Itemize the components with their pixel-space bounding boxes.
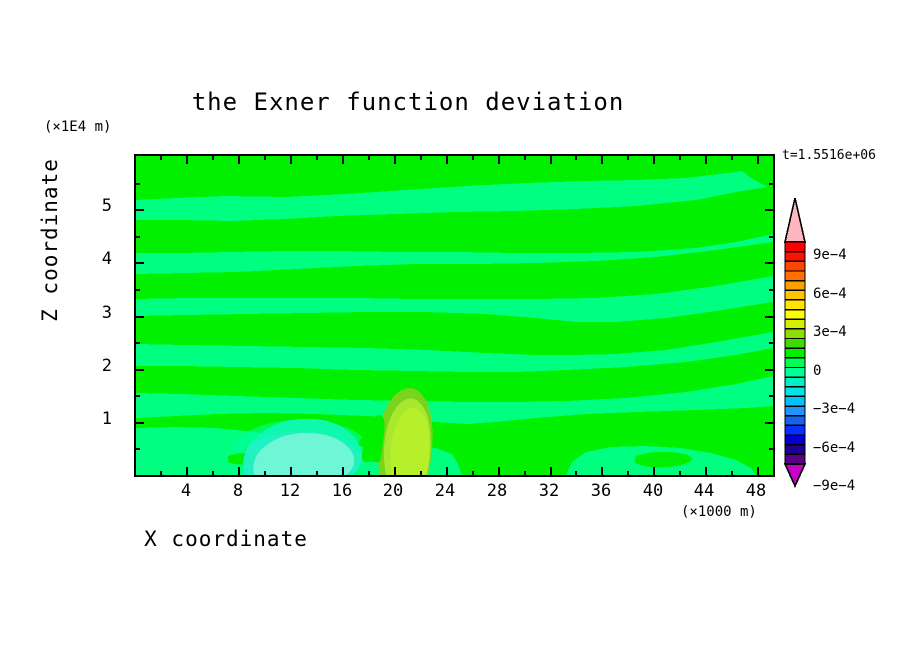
colorbar-tick-label: 6e−4	[813, 286, 847, 302]
x-axis-title: X coordinate	[0, 527, 904, 551]
y-tick-minor	[134, 289, 140, 291]
y-tick-right	[765, 422, 775, 424]
contour-plot-area	[134, 154, 775, 477]
x-tick-minor	[679, 471, 681, 477]
y-tick-right-minor	[769, 236, 775, 238]
y-tick-major	[134, 209, 144, 211]
x-tick-top	[290, 154, 292, 164]
y-tick-right-minor	[769, 342, 775, 344]
x-tick-minor	[264, 471, 266, 477]
x-tick-major	[394, 467, 396, 477]
colorbar-tick-label: 3e−4	[813, 324, 847, 340]
x-tick-top-minor	[575, 154, 577, 160]
x-tick-top-minor	[420, 154, 422, 160]
x-tick-minor	[731, 471, 733, 477]
x-tick-label: 24	[415, 481, 475, 501]
x-tick-top	[550, 154, 552, 164]
x-tick-top-minor	[264, 154, 266, 160]
time-annotation: t=1.5516e+06	[782, 148, 876, 163]
x-tick-major	[653, 467, 655, 477]
x-tick-top-minor	[627, 154, 629, 160]
y-tick-major	[134, 369, 144, 371]
x-tick-top-minor	[731, 154, 733, 160]
x-tick-top	[498, 154, 500, 164]
x-tick-minor	[420, 471, 422, 477]
x-tick-major	[550, 467, 552, 477]
y-tick-right	[765, 262, 775, 264]
y-tick-minor	[134, 236, 140, 238]
y-tick-label: 5	[84, 196, 112, 216]
y-tick-major	[134, 316, 144, 318]
y-tick-label: 4	[84, 249, 112, 269]
y-tick-label: 3	[84, 303, 112, 323]
x-tick-label: 28	[467, 481, 527, 501]
y-tick-minor	[134, 183, 140, 185]
y-tick-right-minor	[769, 448, 775, 450]
y-tick-right-minor	[769, 183, 775, 185]
x-tick-minor	[472, 471, 474, 477]
x-tick-minor	[212, 471, 214, 477]
chart-title: the Exner function deviation	[0, 88, 860, 116]
x-tick-major	[290, 467, 292, 477]
x-tick-top	[757, 154, 759, 164]
x-tick-top-minor	[472, 154, 474, 160]
x-tick-label: 12	[260, 481, 320, 501]
x-tick-minor	[316, 471, 318, 477]
x-tick-major	[446, 467, 448, 477]
y-tick-right-minor	[769, 395, 775, 397]
y-tick-label: 1	[84, 409, 112, 429]
x-axis-unit-label: (×1000 m)	[681, 504, 757, 520]
x-tick-label: 36	[571, 481, 631, 501]
x-tick-top	[238, 154, 240, 164]
y-tick-minor	[134, 448, 140, 450]
y-tick-minor	[134, 395, 140, 397]
y-tick-label: 2	[84, 356, 112, 376]
y-tick-major	[134, 422, 144, 424]
x-tick-label: 20	[363, 481, 423, 501]
x-tick-minor	[368, 471, 370, 477]
x-tick-top-minor	[368, 154, 370, 160]
x-tick-minor	[160, 471, 162, 477]
x-tick-top	[186, 154, 188, 164]
y-tick-minor	[134, 342, 140, 344]
colorbar-tick-label: 0	[813, 363, 821, 379]
x-tick-top-minor	[160, 154, 162, 160]
x-tick-label: 8	[208, 481, 268, 501]
colorbar-tick-label: −6e−4	[813, 440, 855, 456]
x-tick-minor	[627, 471, 629, 477]
x-tick-minor	[575, 471, 577, 477]
contour-field	[136, 156, 773, 475]
x-tick-major	[186, 467, 188, 477]
x-tick-major	[498, 467, 500, 477]
x-tick-major	[705, 467, 707, 477]
x-tick-top	[705, 154, 707, 164]
x-tick-major	[601, 467, 603, 477]
x-tick-label: 44	[674, 481, 734, 501]
y-tick-right	[765, 369, 775, 371]
colorbar-tick-label: 9e−4	[813, 247, 847, 263]
x-tick-top-minor	[212, 154, 214, 160]
x-tick-top	[394, 154, 396, 164]
colorbar-tick-label: −3e−4	[813, 401, 855, 417]
x-tick-minor	[524, 471, 526, 477]
x-tick-major	[238, 467, 240, 477]
x-tick-top	[601, 154, 603, 164]
x-tick-major	[757, 467, 759, 477]
x-tick-top-minor	[679, 154, 681, 160]
y-tick-right	[765, 316, 775, 318]
x-tick-label: 32	[519, 481, 579, 501]
y-tick-right	[765, 209, 775, 211]
colorbar-tick-label: −9e−4	[813, 478, 855, 494]
x-tick-top	[653, 154, 655, 164]
x-tick-top	[342, 154, 344, 164]
x-tick-label: 48	[726, 481, 786, 501]
x-tick-label: 4	[156, 481, 216, 501]
x-tick-top-minor	[316, 154, 318, 160]
y-axis-title: Z coordinate	[38, 130, 62, 350]
y-tick-right-minor	[769, 289, 775, 291]
x-tick-top-minor	[524, 154, 526, 160]
x-tick-top	[446, 154, 448, 164]
x-tick-major	[342, 467, 344, 477]
y-tick-major	[134, 262, 144, 264]
colorbar	[783, 196, 807, 488]
